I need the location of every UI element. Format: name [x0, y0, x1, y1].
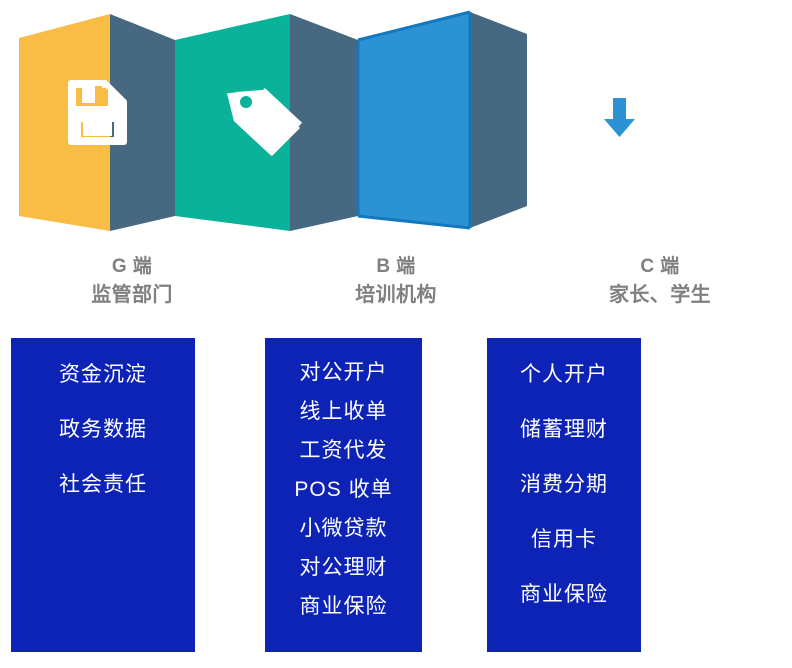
- panel-heading-c: C 端 家长、学生: [528, 254, 792, 326]
- feature-item: 消费分期: [520, 474, 608, 495]
- feature-box-b: 对公开户线上收单工资代发POS 收单小微贷款对公理财商业保险: [265, 338, 422, 652]
- panel-code-c: C 端: [528, 254, 792, 281]
- panel-code-g: G 端: [0, 254, 264, 281]
- feature-item: 资金沉淀: [59, 364, 147, 385]
- panel-side-c: [470, 12, 527, 228]
- panel-heading-g: G 端 监管部门: [0, 254, 264, 326]
- feature-item: 小微贷款: [300, 518, 388, 539]
- folded-ribbon-graphic: [0, 0, 792, 245]
- feature-item: 储蓄理财: [520, 419, 608, 440]
- panel-name-c: 家长、学生: [528, 281, 792, 309]
- feature-box-g: 资金沉淀政务数据社会责任: [11, 338, 195, 652]
- panel-headings-row: G 端 监管部门 B 端 培训机构 C 端 家长、学生: [0, 254, 792, 326]
- panel-code-b: B 端: [264, 254, 528, 281]
- feature-item: 商业保险: [520, 584, 608, 605]
- feature-item: 对公理财: [300, 557, 388, 578]
- feature-item: POS 收单: [294, 479, 392, 500]
- feature-item: 商业保险: [300, 596, 388, 617]
- feature-item: 线上收单: [300, 401, 388, 422]
- feature-item: 政务数据: [59, 419, 147, 440]
- feature-item: 对公开户: [300, 362, 388, 383]
- ribbon-svg: [0, 0, 792, 245]
- feature-item: 工资代发: [300, 440, 388, 461]
- cloud-download-icon: [568, 82, 662, 142]
- panel-name-g: 监管部门: [0, 281, 264, 309]
- panel-face-c: [358, 12, 470, 228]
- feature-box-c: 个人开户储蓄理财消费分期信用卡商业保险: [487, 338, 641, 652]
- feature-item: 社会责任: [59, 474, 147, 495]
- feature-item: 个人开户: [520, 364, 608, 385]
- panel-heading-b: B 端 培训机构: [264, 254, 528, 326]
- panel-name-b: 培训机构: [264, 281, 528, 309]
- feature-item: 信用卡: [531, 529, 597, 550]
